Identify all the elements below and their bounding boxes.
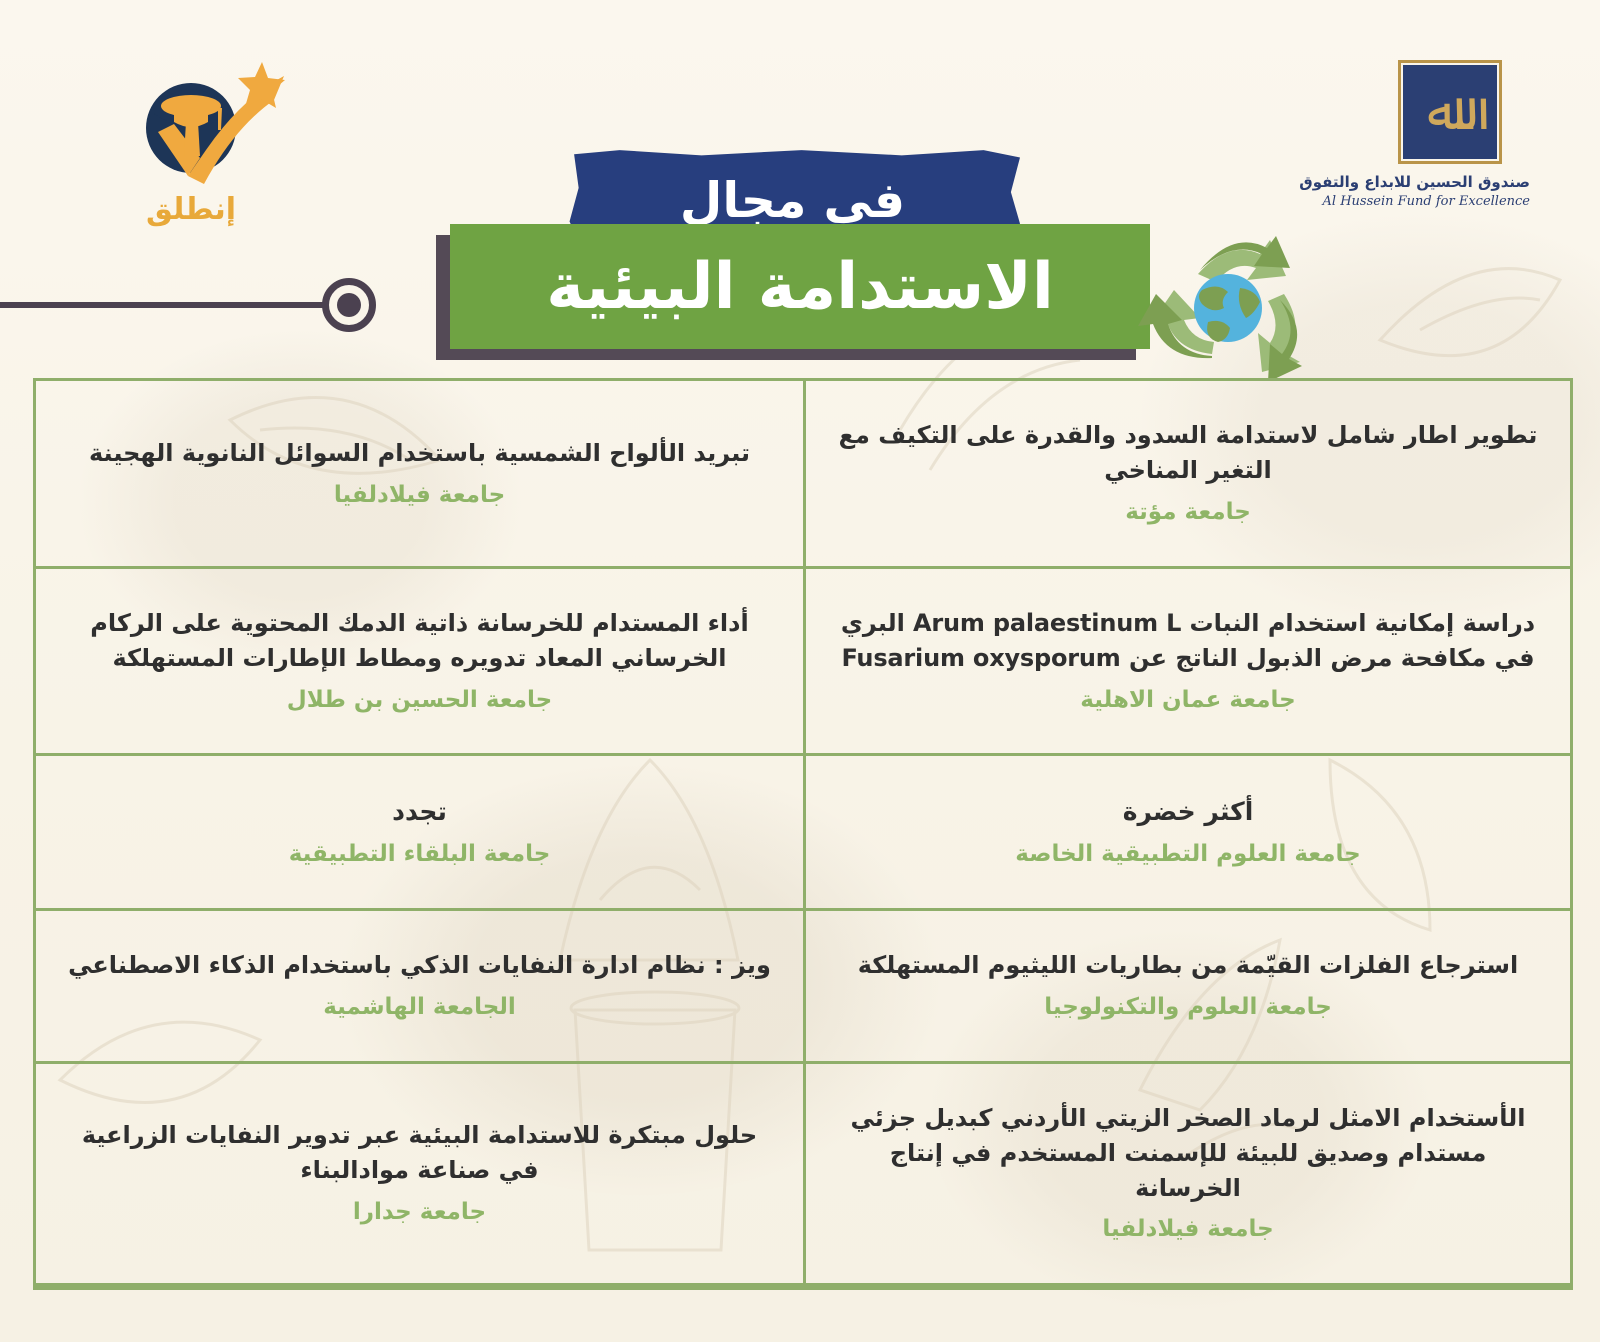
table-cell: تجدد جامعة البلقاء التطبيقية bbox=[36, 756, 803, 910]
project-university: جامعة البلقاء التطبيقية bbox=[289, 838, 551, 870]
table-cell: تطوير اطار شامل لاستدامة السدود والقدرة … bbox=[803, 381, 1570, 569]
project-university: جامعة عمان الاهلية bbox=[1080, 684, 1295, 716]
project-title: تبريد الألواح الشمسية باستخدام السوائل ا… bbox=[89, 436, 750, 471]
project-title: أكثر خضرة bbox=[1123, 794, 1254, 830]
project-university: جامعة مؤتة bbox=[1125, 496, 1251, 528]
connector-dot-icon bbox=[337, 293, 361, 317]
project-title: ويز : نظام ادارة النفايات الذكي باستخدام… bbox=[68, 948, 771, 983]
table-cell: أداء المستدام للخرسانة ذاتية الدمك المحت… bbox=[36, 569, 803, 757]
table-cell: استرجاع الفلزات القيّمة من بطاريات الليث… bbox=[803, 911, 1570, 1064]
intalq-logo-word: إنطلق bbox=[86, 192, 296, 227]
project-university: الجامعة الهاشمية bbox=[323, 991, 516, 1023]
project-university: جامعة العلوم التطبيقية الخاصة bbox=[1015, 838, 1360, 870]
project-title: تطوير اطار شامل لاستدامة السدود والقدرة … bbox=[834, 418, 1542, 488]
project-university: جامعة العلوم والتكنولوجيا bbox=[1044, 991, 1332, 1023]
table-cell: الأستخدام الامثل لرماد الصخر الزيتي الأر… bbox=[803, 1064, 1570, 1283]
tugra-icon: ـﷲ bbox=[1401, 63, 1499, 161]
project-university: جامعة فيلادلفيا bbox=[334, 479, 505, 511]
page-header: إنطلق ـﷲ صندوق الحسين للابداع والتفوق Al… bbox=[0, 0, 1600, 378]
al-hussein-fund-logo: ـﷲ صندوق الحسين للابداع والتفوق Al Husse… bbox=[1370, 60, 1530, 250]
table-cell: تبريد الألواح الشمسية باستخدام السوائل ا… bbox=[36, 381, 803, 569]
project-title: الأستخدام الامثل لرماد الصخر الزيتي الأر… bbox=[834, 1101, 1542, 1205]
project-title: دراسة إمكانية استخدام النبات Arum palaes… bbox=[834, 606, 1542, 676]
fund-arabic-name: صندوق الحسين للابداع والتفوق bbox=[1370, 173, 1530, 191]
project-title: استرجاع الفلزات القيّمة من بطاريات الليث… bbox=[858, 948, 1519, 983]
page-title: الاستدامة البيئية bbox=[450, 224, 1150, 349]
project-title: أداء المستدام للخرسانة ذاتية الدمك المحت… bbox=[64, 606, 775, 676]
intalq-logo-mark bbox=[86, 58, 296, 198]
table-cell: دراسة إمكانية استخدام النبات Arum palaes… bbox=[803, 569, 1570, 757]
project-university: جامعة الحسين بن طلال bbox=[287, 684, 552, 716]
project-university: جامعة فيلادلفيا bbox=[1102, 1213, 1273, 1245]
project-university: جامعة جدارا bbox=[353, 1196, 486, 1228]
fund-english-name: Al Hussein Fund for Excellence bbox=[1370, 194, 1530, 209]
recycle-globe-icon bbox=[1128, 230, 1328, 380]
intalq-logo: إنطلق bbox=[86, 58, 296, 238]
project-title: حلول مبتكرة للاستدامة البيئية عبر تدوير … bbox=[64, 1118, 775, 1188]
project-title: تجدد bbox=[392, 794, 447, 830]
table-cell: أكثر خضرة جامعة العلوم التطبيقية الخاصة bbox=[803, 756, 1570, 910]
table-cell: ويز : نظام ادارة النفايات الذكي باستخدام… bbox=[36, 911, 803, 1064]
connector-line bbox=[0, 302, 330, 308]
tugra-box: ـﷲ bbox=[1398, 60, 1502, 164]
table-cell: حلول مبتكرة للاستدامة البيئية عبر تدوير … bbox=[36, 1064, 803, 1283]
projects-table: تطوير اطار شامل لاستدامة السدود والقدرة … bbox=[33, 378, 1573, 1290]
